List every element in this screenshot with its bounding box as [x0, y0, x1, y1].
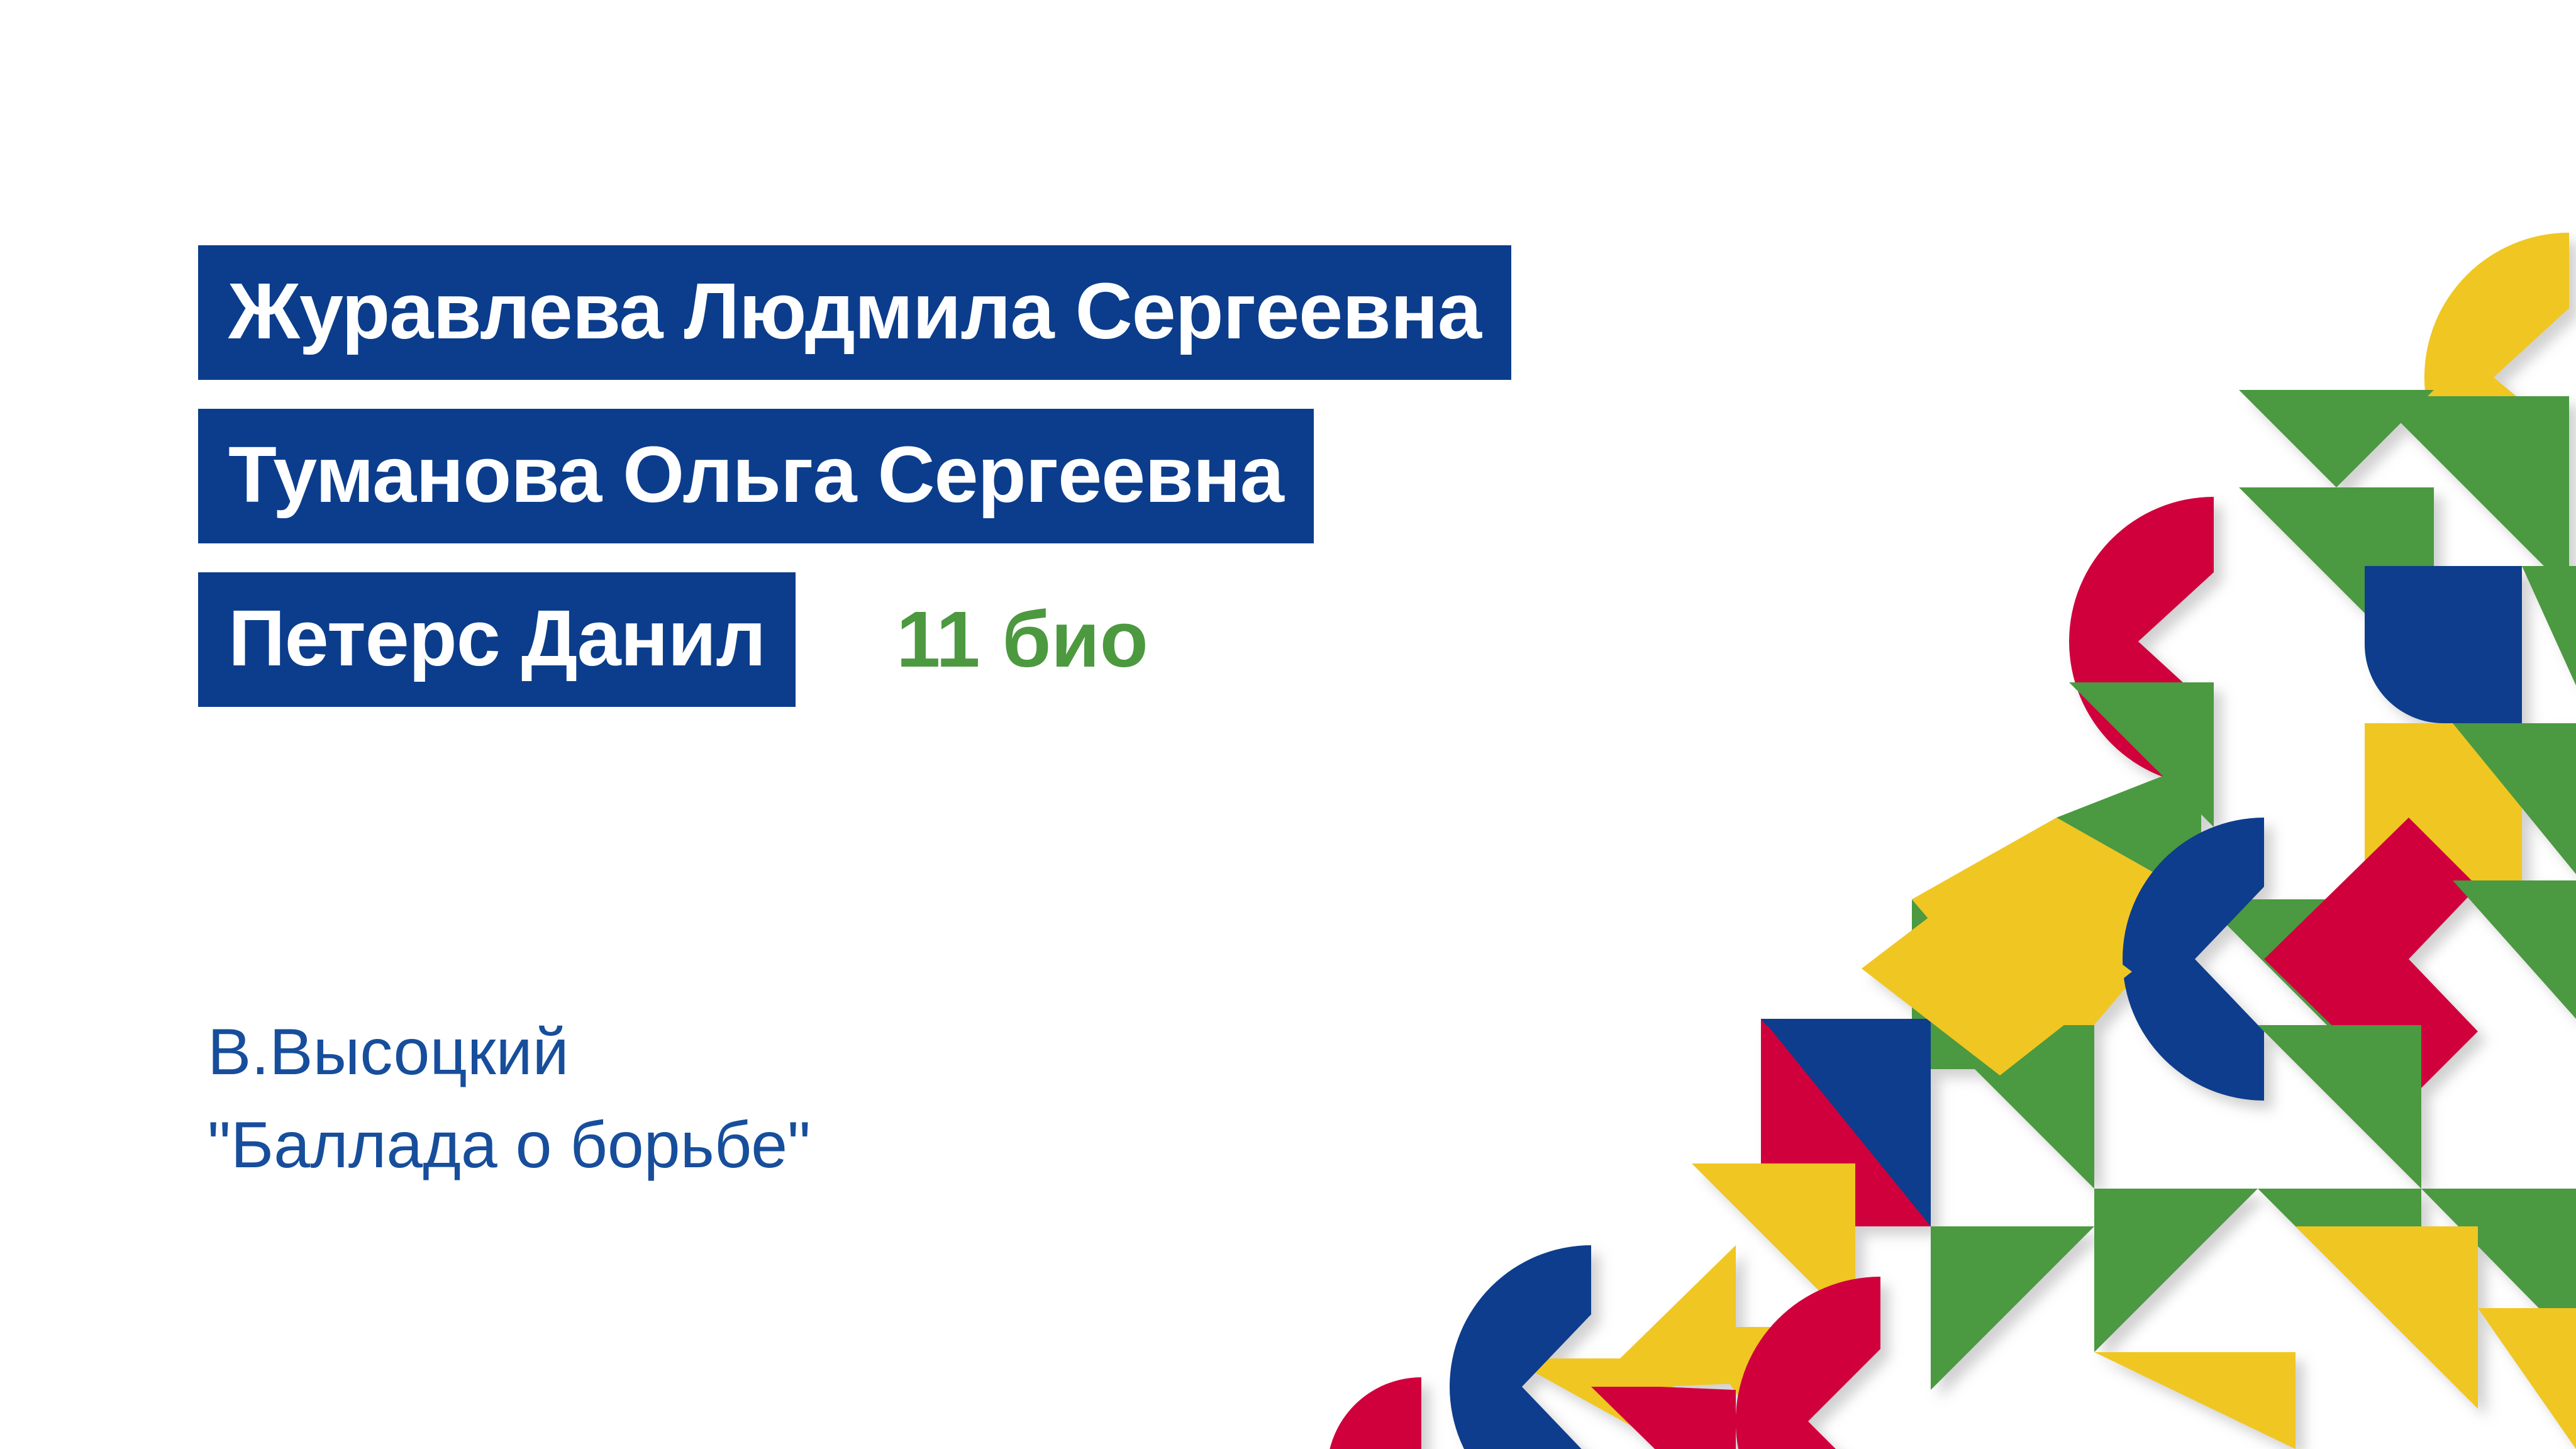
shape-group-split-squares	[1761, 1019, 1931, 1226]
shape-group-mid-yellow-diamond	[1862, 868, 2132, 1075]
shape-group-bottom-far-left	[1327, 1377, 1421, 1449]
slide-canvas: Журавлева Людмила Сергеевна Туманова Оль…	[0, 0, 2576, 1449]
shape-group-mid-right	[2069, 497, 2576, 880]
song-title: "Баллада о борьбе"	[208, 1099, 811, 1192]
shape-group-right-edge	[2453, 723, 2576, 1019]
performer-row-2: Туманова Ольга Сергеевна	[198, 409, 1770, 543]
shape-group-blue-red-square	[1767, 1025, 1931, 1226]
shape-group-bottom-left-pinwheel	[1450, 1245, 1736, 1449]
performer-list: Журавлева Людмила Сергеевна Туманова Оль…	[198, 245, 1770, 736]
performer-row-1: Журавлева Людмила Сергеевна	[198, 245, 1770, 380]
performer-name-chip-2: Туманова Ольга Сергеевна	[198, 409, 1314, 543]
performer-row-3: Петерс Данил 11 био	[198, 572, 1770, 707]
song-credit: В.Высоцкий "Баллада о борьбе"	[208, 1006, 811, 1192]
shape-group-yellow-field	[1509, 1163, 2576, 1449]
shape-group-yellow-diamond	[1912, 761, 2346, 1069]
class-tag-label: 11 био	[896, 600, 1148, 679]
shape-group-top-right	[2239, 233, 2569, 682]
performer-name-chip-1: Журавлева Людмила Сергеевна	[198, 245, 1511, 380]
song-author: В.Высоцкий	[208, 1006, 811, 1099]
shape-group-bottom-red-pac	[1736, 1277, 1880, 1449]
shape-group-green-field	[1931, 1025, 2576, 1390]
shape-group-blue-red-c	[2123, 818, 2478, 1101]
shape-group-upper-steps	[1912, 682, 2214, 830]
performer-name-chip-3: Петерс Данил	[198, 572, 796, 707]
